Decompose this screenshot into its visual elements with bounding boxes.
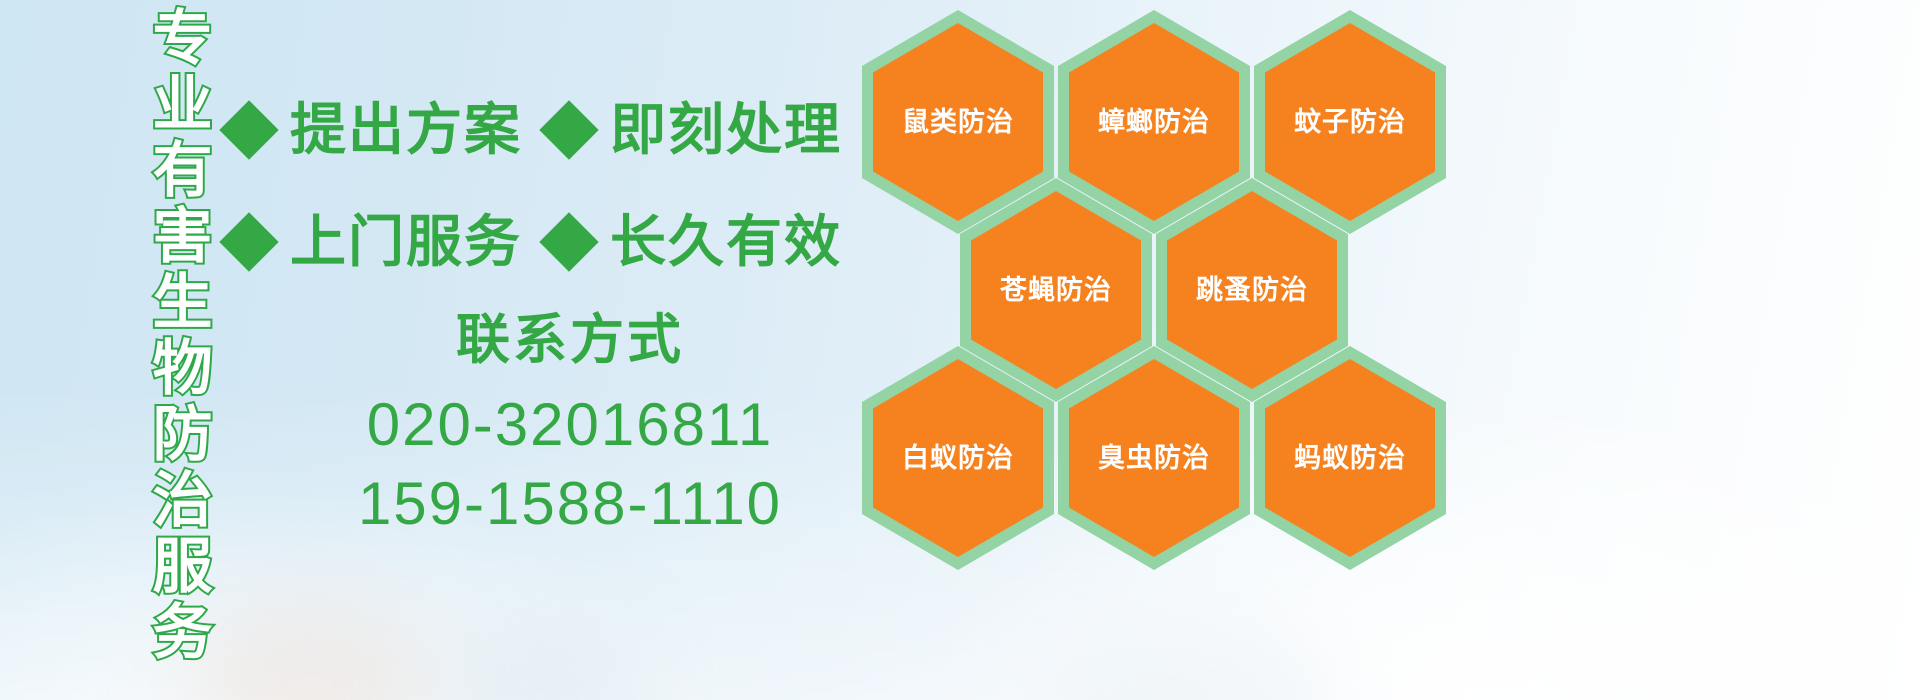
service-hexagon-grid: 鼠类防治 蟑螂防治 蚊子防治 苍蝇防治 跳蚤防治 白蚁防治 bbox=[862, 0, 1462, 700]
bullet-item-immediate-handling: 即刻处理 bbox=[548, 102, 842, 158]
service-label: 跳蚤防治 bbox=[1196, 277, 1308, 304]
hexagon-inner: 蚊子防治 bbox=[1265, 23, 1435, 221]
hexagon-inner: 白蚁防治 bbox=[873, 359, 1043, 557]
service-label: 臭虫防治 bbox=[1098, 445, 1210, 472]
contact-phone-landline[interactable]: 020-32016811 bbox=[300, 385, 840, 464]
feature-bullets: 提出方案 即刻处理 上门服务 长久有效 bbox=[228, 74, 868, 298]
service-label: 蟑螂防治 bbox=[1098, 109, 1210, 136]
contact-phone-mobile[interactable]: 159-1588-1110 bbox=[300, 464, 840, 543]
service-label: 白蚁防治 bbox=[902, 445, 1014, 472]
service-label: 鼠类防治 bbox=[902, 109, 1014, 136]
service-label: 蚊子防治 bbox=[1294, 109, 1406, 136]
service-label: 苍蝇防治 bbox=[1000, 277, 1112, 304]
bullet-label: 长久有效 bbox=[610, 214, 842, 270]
hexagon-inner: 臭虫防治 bbox=[1069, 359, 1239, 557]
service-label: 蚂蚁防治 bbox=[1294, 445, 1406, 472]
hexagon-inner: 蟑螂防治 bbox=[1069, 23, 1239, 221]
contact-label: 联系方式 bbox=[300, 312, 840, 369]
diamond-icon bbox=[539, 212, 598, 271]
bullet-row: 上门服务 长久有效 bbox=[228, 186, 868, 298]
bullet-label: 即刻处理 bbox=[610, 102, 842, 158]
hexagon-inner: 鼠类防治 bbox=[873, 23, 1043, 221]
bullet-row: 提出方案 即刻处理 bbox=[228, 74, 868, 186]
contact-block: 联系方式 020-32016811 159-1588-1110 bbox=[300, 312, 840, 543]
hexagon-inner: 蚂蚁防治 bbox=[1265, 359, 1435, 557]
pest-control-banner: 专业有害生物防治服务 提出方案 即刻处理 上门服务 长久有效 联 bbox=[0, 0, 1920, 700]
background-blob bbox=[180, 600, 440, 700]
hexagon-inner: 苍蝇防治 bbox=[971, 191, 1141, 389]
hexagon-inner: 跳蚤防治 bbox=[1167, 191, 1337, 389]
diamond-icon bbox=[539, 100, 598, 159]
diamond-icon bbox=[219, 100, 278, 159]
diamond-icon bbox=[219, 212, 278, 271]
background-blob bbox=[430, 620, 650, 700]
bullet-label: 上门服务 bbox=[290, 214, 522, 270]
bullet-item-propose-plan: 提出方案 bbox=[228, 102, 522, 158]
vertical-headline: 专业有害生物防治服务 bbox=[104, 6, 208, 696]
bullet-item-long-lasting: 长久有效 bbox=[548, 214, 842, 270]
bullet-item-onsite-service: 上门服务 bbox=[228, 214, 522, 270]
bullet-label: 提出方案 bbox=[290, 102, 522, 158]
